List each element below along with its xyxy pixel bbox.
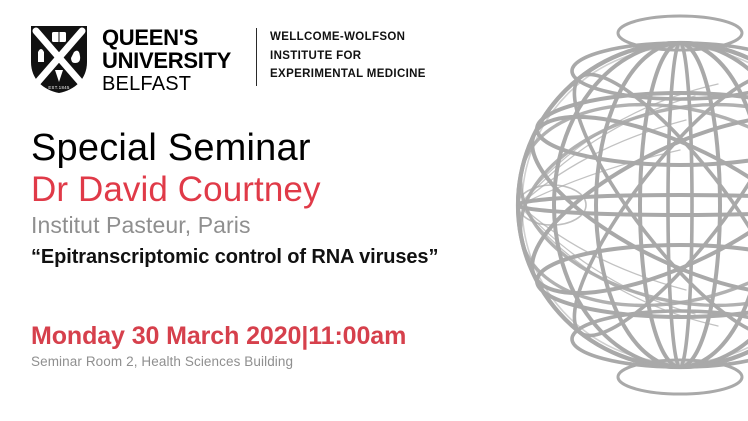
seminar-venue: Seminar Room 2, Health Sciences Building: [31, 354, 406, 370]
institute-name: WELLCOME-WOLFSON INSTITUTE FOR EXPERIMEN…: [270, 28, 426, 84]
seminar-datetime: Monday 30 March 2020|11:00am: [31, 322, 406, 350]
lockup-divider: [256, 28, 257, 86]
wordmark-line-university: UNIVERSITY: [102, 50, 231, 72]
wordmark-line-queens: QUEEN'S: [102, 27, 231, 49]
speaker-name: Dr David Courtney: [31, 170, 438, 209]
wireframe-globe-graphic: [490, 0, 748, 421]
seminar-logistics: Monday 30 March 2020|11:00am Seminar Roo…: [31, 322, 406, 370]
institute-line-2: INSTITUTE FOR: [270, 47, 426, 66]
seminar-details: Special Seminar Dr David Courtney Instit…: [31, 128, 438, 269]
wordmark-line-belfast: BELFAST: [102, 74, 231, 94]
speaker-affiliation: Institut Pasteur, Paris: [31, 212, 438, 238]
talk-title: “Epitranscriptomic control of RNA viruse…: [31, 245, 438, 269]
brand-lockup: EST.1845 QUEEN'S UNIVERSITY BELFAST WELL…: [29, 24, 426, 95]
institute-line-3: EXPERIMENTAL MEDICINE: [270, 65, 426, 84]
university-wordmark: QUEEN'S UNIVERSITY BELFAST: [102, 24, 231, 94]
svg-text:EST.1845: EST.1845: [48, 85, 70, 90]
queens-university-crest-icon: EST.1845: [29, 24, 89, 95]
seminar-poster: EST.1845 QUEEN'S UNIVERSITY BELFAST WELL…: [0, 0, 748, 421]
institute-line-1: WELLCOME-WOLFSON: [270, 28, 426, 47]
seminar-kicker: Special Seminar: [31, 128, 438, 169]
